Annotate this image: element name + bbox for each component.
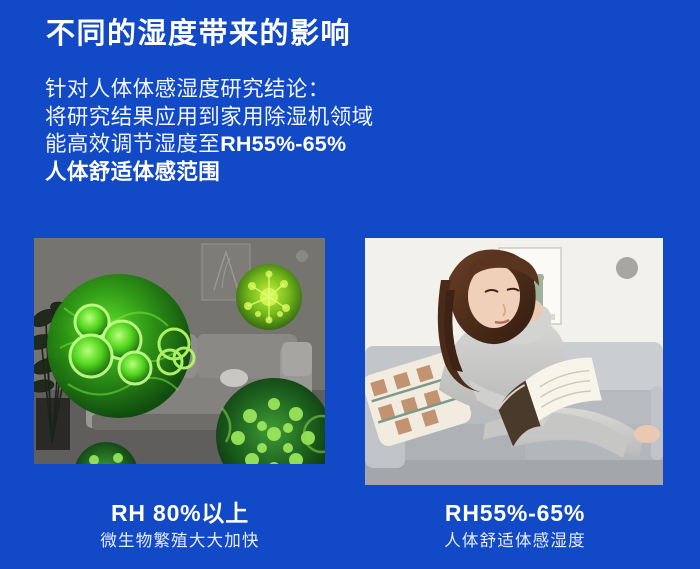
body-line-4: 人体舒适体感范围 bbox=[45, 159, 445, 187]
photo-right-comfort bbox=[365, 238, 663, 485]
humidity-effect-poster: 不同的湿度带来的影响 针对人体体感湿度研究结论： 将研究结果应用到家用除湿机领域… bbox=[0, 0, 700, 569]
body-line-3-prefix: 能高效调节湿度至 bbox=[45, 132, 220, 156]
caption-left: RH 80%以上 微生物繁殖大大加快 bbox=[30, 498, 330, 554]
caption-right-subtitle: 人体舒适体感湿度 bbox=[365, 528, 665, 554]
body-line-2: 将研究结果应用到家用除湿机领域 bbox=[45, 104, 445, 132]
caption-right: RH55%-65% 人体舒适体感湿度 bbox=[365, 498, 665, 554]
body-line-1: 针对人体体感湿度研究结论： bbox=[45, 76, 445, 104]
caption-right-title: RH55%-65% bbox=[365, 498, 665, 528]
woman-reading-illustration bbox=[365, 238, 663, 485]
body-copy: 针对人体体感湿度研究结论： 将研究结果应用到家用除湿机领域 能高效调节湿度至RH… bbox=[45, 76, 445, 186]
caption-left-subtitle: 微生物繁殖大大加快 bbox=[30, 528, 330, 554]
page-title: 不同的湿度带来的影响 bbox=[46, 17, 351, 52]
photo-left-germs bbox=[34, 238, 325, 464]
body-line-3: 能高效调节湿度至RH55%-65% bbox=[45, 131, 445, 159]
body-line-3-emphasis: RH55%-65% bbox=[220, 132, 346, 156]
caption-left-title: RH 80%以上 bbox=[30, 498, 330, 528]
germ-room-illustration bbox=[34, 238, 325, 464]
